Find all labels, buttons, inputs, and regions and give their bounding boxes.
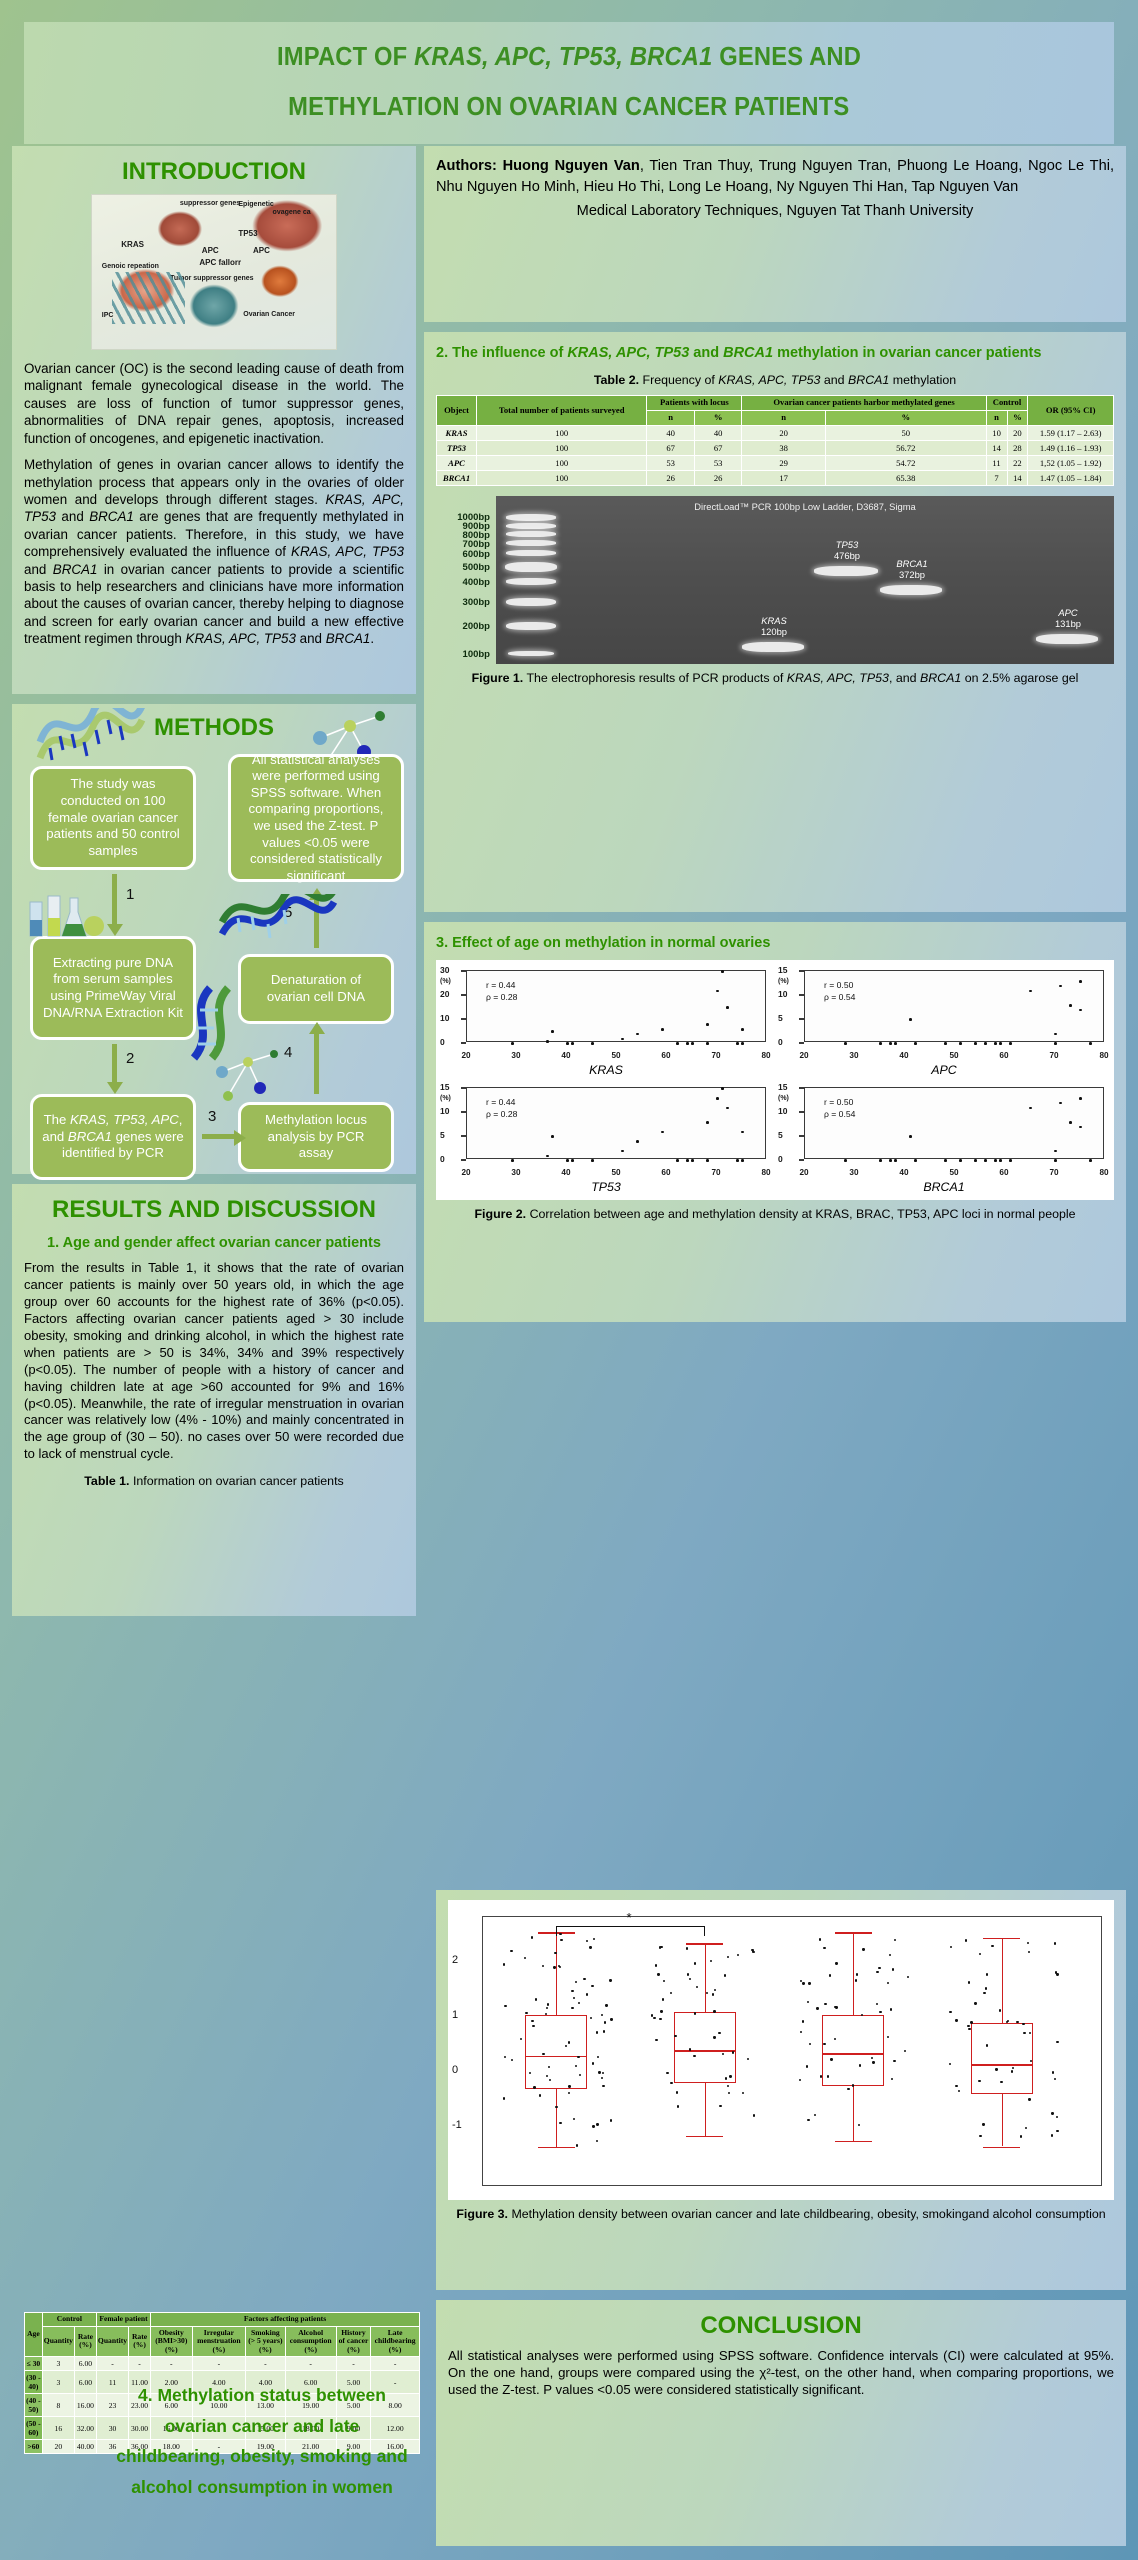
scatter-plot-kras: 0102030(%)20304050607080r = 0.44ρ = 0.28: [440, 966, 772, 1062]
t1-group-header-0: Control: [42, 2313, 96, 2327]
section-2-panel: 2. The influence of KRAS, APC, TP53 and …: [424, 332, 1126, 912]
boxplot-y-tick: 2: [452, 1954, 458, 1966]
x-tick-label: 70: [1049, 1168, 1058, 1177]
boxplot-data-point: [806, 2065, 808, 2067]
y-tick-label: 5: [440, 1130, 445, 1140]
poster-root: IMPACT OF KRAS, APC, TP53, BRCA1 GENES A…: [0, 0, 1138, 2560]
boxplot-data-point: [823, 1947, 825, 1949]
boxplot-data-point: [592, 2062, 594, 2064]
results-subheading-4: 4. Methylation status between ovarian ca…: [112, 2380, 412, 2503]
boxplot-data-point: [824, 2003, 826, 2005]
y-tick-label: 20: [440, 989, 449, 999]
x-tick-label: 20: [461, 1168, 470, 1177]
boxplot-data-point: [1023, 2032, 1025, 2034]
boxplot-data-point: [553, 1966, 555, 1968]
methods-panel: METHODS: [12, 704, 416, 1174]
t2-r1-total: 100: [477, 440, 647, 455]
illustration-label-ovagene: ovagene ca: [273, 209, 311, 216]
data-point: [741, 1028, 744, 1031]
data-point: [686, 1159, 689, 1162]
t2-r0-meth-n: 20: [742, 425, 825, 440]
data-point: [1079, 1097, 1082, 1100]
boxplot-data-point: [974, 2002, 976, 2004]
t1-r0-c3: -: [96, 2357, 128, 2371]
data-point: [894, 1159, 897, 1162]
illustration-label-apc-1: APC: [202, 246, 219, 255]
data-point: [716, 1097, 719, 1100]
data-point: [571, 1159, 574, 1162]
y-tick-label: 15: [778, 1082, 787, 1092]
t1-h-1: Rate (%): [74, 2326, 96, 2357]
t1-r2-c0: (40 - 50): [25, 2394, 43, 2417]
ladder-band-400: [506, 578, 556, 585]
t2-r1-ctrl-n: 14: [986, 440, 1007, 455]
boxplot-data-point: [950, 1946, 952, 1948]
y-axis-unit-label: (%): [440, 1095, 451, 1102]
boxplot-data-point: [596, 2123, 598, 2125]
boxplot-data-point: [603, 2030, 605, 2032]
methods-arrow-3: [202, 1134, 238, 1139]
boxplot-data-point: [655, 1964, 657, 1966]
t1-r4-c2: 40.00: [74, 2440, 96, 2454]
y-tick: [799, 994, 804, 995]
t2-r0-ctrl-n: 10: [986, 425, 1007, 440]
data-point: [511, 1042, 514, 1045]
data-point: [721, 1087, 724, 1090]
boxplot-data-point: [539, 2094, 541, 2096]
boxplot-data-point: [666, 2072, 668, 2074]
y-tick-label: 5: [778, 1013, 783, 1023]
data-point: [1029, 990, 1032, 993]
data-point: [1089, 1159, 1092, 1162]
t2-r3-or: 1.47 (1.05 – 1.84): [1028, 470, 1114, 485]
x-tick-label: 50: [611, 1168, 620, 1177]
gel-electrophoresis-image: DirectLoad™ PCR 100bp Low Ladder, D3687,…: [496, 496, 1114, 664]
significance-bracket: [556, 1926, 705, 1936]
molecule-decoration-2: [208, 1044, 288, 1108]
authors-panel: Authors: Huong Nguyen Van, Tien Tran Thu…: [424, 146, 1126, 322]
boxplot-data-point: [820, 2075, 822, 2077]
data-point: [909, 1018, 912, 1021]
data-point: [1009, 1042, 1012, 1045]
data-point: [844, 1042, 847, 1045]
data-point: [706, 1042, 709, 1045]
boxplot-data-point: [727, 1956, 729, 1958]
boxplot-data-point: [819, 1938, 821, 1940]
t1-r0-c0: ≤ 30: [25, 2357, 43, 2371]
data-point: [974, 1042, 977, 1045]
data-point: [691, 1159, 694, 1162]
data-point: [1029, 1107, 1032, 1110]
data-point: [879, 1042, 882, 1045]
boxplot-median: [971, 2064, 1033, 2065]
methods-box-1: The study was conducted on 100 female ov…: [30, 766, 196, 870]
illustration-label-suppressor: suppressor genes: [180, 200, 240, 207]
boxplot-data-point: [591, 1985, 593, 1987]
boxplot-data-point: [1016, 2021, 1018, 2023]
conclusion-panel: CONCLUSION All statistical analyses were…: [436, 2300, 1126, 2546]
boxplot-data-point: [533, 2086, 535, 2088]
illustration-label-ipc: IPC: [102, 312, 114, 319]
y-tick-label: 5: [778, 1130, 783, 1140]
significance-star: *: [627, 1910, 632, 1925]
t2-r3-locus-n: 26: [647, 470, 695, 485]
t1-h-6: Smoking (> 5 years) (%): [246, 2326, 285, 2357]
y-tick-label: 10: [778, 1106, 787, 1116]
data-point: [914, 1159, 917, 1162]
x-tick-label: 20: [799, 1168, 808, 1177]
x-tick-label: 30: [511, 1168, 520, 1177]
x-tick-label: 80: [1099, 1051, 1108, 1060]
boxplot-data-point: [979, 2135, 981, 2137]
methods-box-4: Methylation locus analysis by PCR assay: [238, 1102, 394, 1172]
x-tick-label: 60: [999, 1051, 1008, 1060]
boxplot-data-point: [542, 2053, 544, 2055]
gel-label-brca1: BRCA1372bp: [876, 559, 948, 581]
t1-r0-c6: -: [192, 2357, 246, 2371]
introduction-heading: INTRODUCTION: [24, 158, 404, 186]
boxplot-data-point: [568, 2085, 570, 2087]
section-2-heading: 2. The influence of KRAS, APC, TP53 and …: [436, 342, 1114, 364]
data-point: [1054, 1042, 1057, 1045]
x-tick-label: 40: [561, 1051, 570, 1060]
boxplot-data-point: [955, 2019, 957, 2021]
data-point: [566, 1159, 569, 1162]
gel-band-apc: [1036, 634, 1098, 644]
boxplot-data-point: [1000, 2081, 1002, 2083]
methods-arrow-2-head: [107, 1082, 123, 1094]
data-point: [706, 1121, 709, 1124]
data-point: [546, 1155, 549, 1158]
y-tick-label: 15: [778, 965, 787, 975]
t1-r2-c1: 8: [42, 2394, 74, 2417]
scatter-plot-tp53: 051015(%)20304050607080r = 0.44ρ = 0.28: [440, 1083, 772, 1179]
boxplot-data-point: [995, 2068, 997, 2070]
boxplot-data-point: [592, 2125, 594, 2127]
page-title-line-1: IMPACT OF KRAS, APC, TP53, BRCA1 GENES A…: [277, 33, 861, 83]
t1-h-age: Age: [25, 2313, 43, 2357]
t1-group-header-2: Factors affecting patients: [151, 2313, 420, 2327]
t2-h-control: Control: [986, 396, 1028, 411]
x-tick-label: 20: [799, 1051, 808, 1060]
data-point: [959, 1042, 962, 1045]
boxplot-whisker-upper: [705, 1943, 706, 2012]
figure-2-scatter-plots: 0102030(%)20304050607080r = 0.44ρ = 0.28…: [436, 960, 1114, 1200]
ladder-band-900: [506, 523, 556, 529]
x-tick-label: 30: [849, 1051, 858, 1060]
authors-affiliation: Medical Laboratory Techniques, Nguyen Ta…: [436, 201, 1114, 222]
t2-r2-meth-p: 54.72: [825, 455, 986, 470]
t1-r0-c10: -: [371, 2357, 420, 2371]
scatter-plot-title: KRAS: [440, 1063, 772, 1077]
boxplot-data-point: [531, 2020, 533, 2022]
boxplot-data-point: [712, 1993, 714, 1995]
gel-band-kras: [742, 642, 804, 652]
boxplot-data-point: [686, 1947, 688, 1949]
authors-list: Authors: Huong Nguyen Van, Tien Tran Thu…: [436, 156, 1114, 197]
boxplot-data-point: [535, 1998, 537, 2000]
illustration-label-genoic: Genoic repeation: [102, 263, 159, 270]
boxplot-data-point: [602, 2085, 604, 2087]
scatter-cell-kras: 0102030(%)20304050607080r = 0.44ρ = 0.28…: [440, 966, 772, 1081]
boxplot-whisker-upper: [853, 1932, 854, 2014]
t2-r0-total: 100: [477, 425, 647, 440]
y-tick: [461, 1159, 466, 1160]
t1-h-9: Late childbearing (%): [371, 2326, 420, 2357]
scatter-cell-brca1: 051015(%)20304050607080r = 0.50ρ = 0.54B…: [778, 1083, 1110, 1198]
boxplot-data-point: [713, 2036, 715, 2038]
boxplot-data-point: [503, 1963, 505, 1965]
section-3-panel: 3. Effect of age on methylation in norma…: [424, 922, 1126, 1322]
data-point: [741, 1159, 744, 1162]
boxplot-data-point: [724, 1974, 726, 1976]
gel-label-tp53: TP53476bp: [812, 540, 882, 562]
data-point: [636, 1140, 639, 1143]
boxplot-cap-lower: [835, 2141, 872, 2142]
t1-r3-c0: (50 - 60): [25, 2417, 43, 2440]
gel-label-apc: APC131bp: [1034, 608, 1102, 630]
data-point: [571, 1042, 574, 1045]
t1-r2-c2: 16.00: [74, 2394, 96, 2417]
boxplot-y-tick: 0: [452, 2064, 458, 2076]
boxplot-data-point: [872, 2061, 874, 2063]
x-tick-label: 60: [661, 1168, 670, 1177]
boxplot-data-point: [677, 2105, 679, 2107]
boxplot-data-point: [1020, 2135, 1022, 2137]
boxplot-data-point: [809, 2043, 811, 2045]
figure-3-boxplot: -1012*: [448, 1900, 1114, 2200]
y-axis-unit-label: (%): [778, 1095, 789, 1102]
boxplot-data-point: [503, 2097, 505, 2099]
methods-box-6: All statistical analyses were performed …: [228, 754, 404, 882]
boxplot-data-point: [732, 2051, 734, 2053]
t2-r1-or: 1.49 (1.16 – 1.93): [1028, 440, 1114, 455]
data-point: [736, 1042, 739, 1045]
figure-2-caption: Figure 2. Correlation between age and me…: [436, 1206, 1114, 1223]
t1-h-2: Quantity: [96, 2326, 128, 2357]
boxplot-whisker-lower: [705, 2083, 706, 2135]
y-tick: [799, 1159, 804, 1160]
t1-r0-c8: -: [285, 2357, 336, 2371]
y-tick-label: 0: [778, 1037, 783, 1047]
boxplot-data-point: [729, 2075, 731, 2077]
ladder-band-300: [506, 598, 556, 606]
t2-r1-meth-p: 56.72: [825, 440, 986, 455]
data-point: [706, 1023, 709, 1026]
data-point: [716, 990, 719, 993]
plot-annotation: r = 0.50: [824, 1097, 855, 1109]
t2-r2-meth-n: 29: [742, 455, 825, 470]
t2-r3-ctrl-n: 7: [986, 470, 1007, 485]
data-point: [551, 1030, 554, 1033]
table-row: APC 100 53 53 29 54.72 11 22 1,52 (1.05 …: [437, 455, 1114, 470]
y-axis-unit-label: (%): [440, 978, 451, 985]
methods-arrow-1-head: [107, 924, 123, 936]
introduction-paragraph-1: Ovarian cancer (OC) is the second leadin…: [24, 360, 404, 447]
data-point: [591, 1042, 594, 1045]
y-tick: [799, 1042, 804, 1043]
plot-annotation: r = 0.44: [486, 1097, 517, 1109]
t1-h-8: History of cancer (%): [336, 2326, 371, 2357]
gel-ladder-label-200: 200bp: [436, 621, 490, 632]
methods-arrow-3-head: [234, 1130, 246, 1146]
t2-h-methylated: Ovarian cancer patients harbor methylate…: [742, 396, 986, 411]
t2-r1-meth-n: 38: [742, 440, 825, 455]
x-tick-label: 20: [461, 1051, 470, 1060]
boxplot-data-point: [752, 1950, 754, 1952]
boxplot-data-point: [876, 1971, 878, 1973]
boxplot-data-point: [560, 1939, 562, 1941]
boxplot-median: [822, 2053, 884, 2054]
methods-arrow-2: [112, 1044, 117, 1084]
y-tick: [799, 1018, 804, 1019]
data-point: [551, 1135, 554, 1138]
table-2-header-row-top: Object Total number of patients surveyed…: [437, 396, 1114, 411]
boxplot-cap-lower: [686, 2136, 723, 2137]
table-2-caption: Table 2. Frequency of KRAS, APC, TP53 an…: [436, 372, 1114, 389]
illustration-label-ovarian-cancer: Ovarian Cancer: [243, 311, 295, 318]
boxplot-data-point: [546, 2075, 548, 2077]
t1-r3-c1: 16: [42, 2417, 74, 2440]
table-1-header-row: QuantityRate (%)QuantityRate (%)Obesity …: [25, 2326, 420, 2357]
y-tick: [799, 1111, 804, 1112]
ladder-band-1000: [506, 514, 556, 521]
t2-r0-or: 1.59 (1.17 – 2.63): [1028, 425, 1114, 440]
ovarian-cancer-illustration: suppressor genes Epigenetic ovagene ca K…: [91, 194, 337, 350]
illustration-label-tumor-suppressor: Tumor suppressor genes: [170, 275, 254, 282]
scatter-cell-apc: 051015(%)20304050607080r = 0.50ρ = 0.54A…: [778, 966, 1110, 1081]
boxplot-data-point: [610, 2018, 612, 2020]
x-tick-label: 70: [711, 1051, 720, 1060]
boxplot-data-point: [670, 2082, 672, 2084]
x-tick-label: 40: [899, 1168, 908, 1177]
boxplot-box: [674, 2012, 736, 2083]
plot-annotation: r = 0.44: [486, 980, 517, 992]
boxplot-whisker-lower: [1002, 2094, 1003, 2146]
scatter-plot-brca1: 051015(%)20304050607080r = 0.50ρ = 0.54: [778, 1083, 1110, 1179]
boxplot-data-point: [968, 1981, 970, 1983]
scatter-plot-title: APC: [778, 1063, 1110, 1077]
boxplot-data-point: [659, 1946, 661, 1948]
data-point: [706, 1159, 709, 1162]
table-row: ≤ 3036.00--------: [25, 2357, 420, 2371]
boxplot-data-point: [504, 2056, 506, 2058]
right-column: Authors: Huong Nguyen Van, Tien Tran Thu…: [424, 146, 1126, 1332]
boxplot-data-point: [1051, 2134, 1053, 2136]
methods-arrow-1: [112, 874, 117, 926]
ladder-band-500: [505, 562, 557, 572]
data-point: [621, 1038, 624, 1041]
plot-annotation: ρ = 0.54: [824, 1109, 855, 1121]
boxplot-data-point: [596, 2031, 598, 2033]
boxplot-data-point: [879, 2011, 881, 2013]
data-point: [1079, 980, 1082, 983]
data-point: [591, 1159, 594, 1162]
data-point: [844, 1159, 847, 1162]
boxplot-box: [822, 2015, 884, 2086]
conclusion-text: All statistical analyses were performed …: [448, 2348, 1114, 2399]
illustration-label-kras: KRAS: [121, 240, 144, 249]
dna-helix-decoration-2: [218, 894, 338, 954]
boxplot-data-point: [571, 2007, 573, 2009]
plot-annotation: ρ = 0.28: [486, 1109, 517, 1121]
scatter-plot-title: BRCA1: [778, 1180, 1110, 1194]
boxplot-data-point: [576, 2144, 578, 2146]
data-point: [984, 1159, 987, 1162]
t2-r2-gene: APC: [437, 455, 477, 470]
boxplot-data-point: [807, 2119, 809, 2121]
data-point: [994, 1042, 997, 1045]
ladder-band-200: [506, 622, 556, 630]
gel-ladder-label-100: 100bp: [436, 649, 490, 660]
boxplot-data-point: [835, 2006, 837, 2008]
t2-sub-ctrl-n: n: [986, 411, 1007, 426]
t1-r4-c0: >60: [25, 2440, 43, 2454]
conclusion-heading: CONCLUSION: [448, 2312, 1114, 2340]
plot-annotations: r = 0.50ρ = 0.54: [824, 980, 855, 1003]
introduction-paragraph-2: Methylation of genes in ovarian cancer a…: [24, 456, 404, 648]
y-tick: [461, 1018, 466, 1019]
y-tick-label: 30: [440, 965, 449, 975]
boxplot-data-point: [532, 2025, 534, 2027]
data-point: [546, 1040, 549, 1043]
ladder-band-700: [506, 540, 556, 546]
introduction-panel: INTRODUCTION suppressor genes Epigenetic…: [12, 146, 416, 694]
t2-r1-locus-p: 67: [694, 440, 742, 455]
data-point: [1089, 1042, 1092, 1045]
results-panel: RESULTS AND DISCUSSION 1. Age and gender…: [12, 1184, 416, 1616]
poster-title-band: IMPACT OF KRAS, APC, TP53, BRCA1 GENES A…: [24, 22, 1114, 144]
methods-box-3: The KRAS, TP53, APC, and BRCA1 genes wer…: [30, 1094, 196, 1180]
x-tick-label: 40: [561, 1168, 570, 1177]
boxplot-cap-upper: [983, 1938, 1020, 1939]
table-row: BRCA1 100 26 26 17 65.38 7 14 1.47 (1.05…: [437, 470, 1114, 485]
t2-r3-total: 100: [477, 470, 647, 485]
boxplot-data-point: [657, 1973, 659, 1975]
boxplot-cap-lower: [983, 2147, 1020, 2148]
boxplot-data-point: [978, 2080, 980, 2082]
x-tick-label: 70: [1049, 1051, 1058, 1060]
boxplot-data-point: [609, 1979, 611, 1981]
boxplot-data-point: [835, 1962, 837, 1964]
y-tick-label: 10: [440, 1013, 449, 1023]
gel-ladder-title: DirectLoad™ PCR 100bp Low Ladder, D3687,…: [694, 501, 915, 512]
data-point: [726, 1107, 729, 1110]
boxplot-data-point: [577, 2056, 579, 2058]
t1-h-3: Rate (%): [129, 2326, 151, 2357]
boxplot-data-point: [605, 2004, 607, 2006]
boxplot-data-point: [816, 2007, 818, 2009]
t2-r0-gene: KRAS: [437, 425, 477, 440]
plot-annotation: ρ = 0.28: [486, 992, 517, 1004]
x-tick-label: 40: [899, 1051, 908, 1060]
boxplot-data-point: [687, 1973, 689, 1975]
data-point: [889, 1159, 892, 1162]
boxplot-data-point: [827, 2075, 829, 2077]
data-point: [726, 1006, 729, 1009]
left-column: INTRODUCTION suppressor genes Epigenetic…: [12, 146, 416, 1626]
data-point: [691, 1042, 694, 1045]
plot-annotations: r = 0.44ρ = 0.28: [486, 980, 517, 1003]
methods-box-2: Extracting pure DNA from serum samples u…: [30, 936, 196, 1040]
results-paragraph-1: From the results in Table 1, it shows th…: [24, 1260, 404, 1463]
boxplot-whisker-upper: [556, 1932, 557, 2014]
boxplot-data-point: [892, 1968, 894, 1970]
gel-band-brca1: [880, 585, 942, 595]
ladder-band-600: [506, 550, 556, 556]
y-tick-label: 10: [778, 989, 787, 999]
t1-r3-c2: 32.00: [74, 2417, 96, 2440]
